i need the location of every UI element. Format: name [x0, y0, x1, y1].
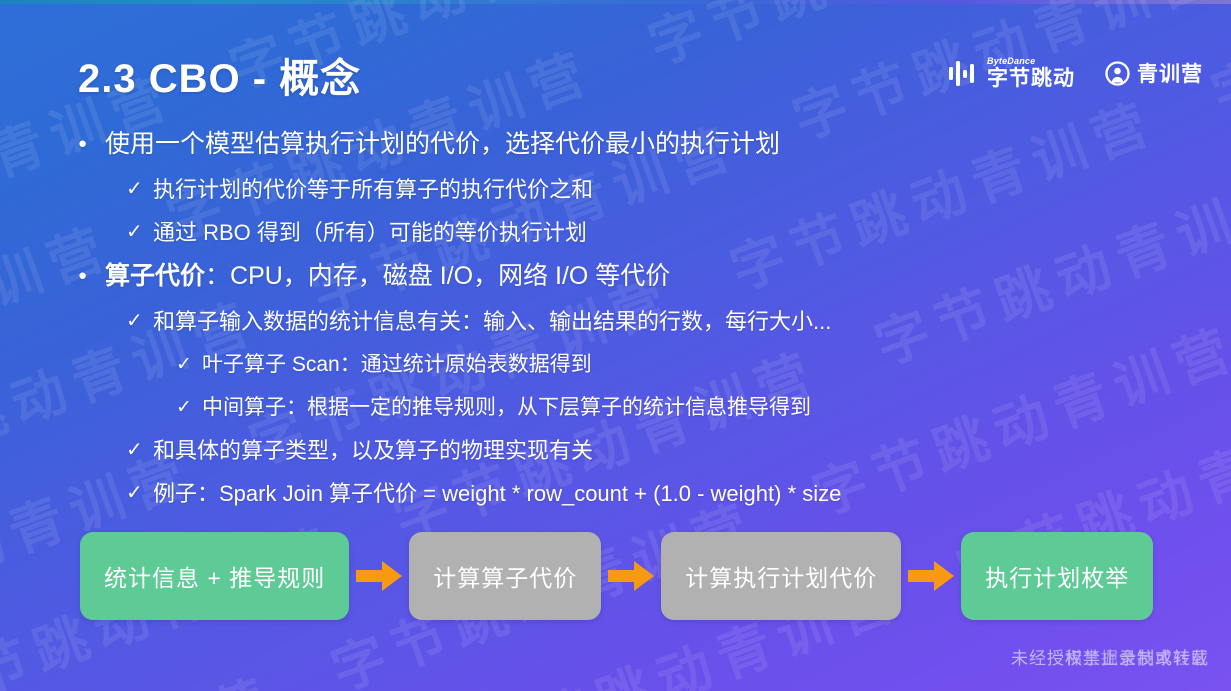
footer-overlay-watermark: 稀土掘金技术社区 — [1065, 644, 1209, 669]
flow-step-label: 执行计划枚举 — [985, 559, 1129, 593]
bullet-text: 执行计划的代价等于所有算子的执行代价之和 — [153, 170, 1191, 209]
bullet-item-level2: ✓和算子输入数据的统计信息有关：输入、输出结果的行数，每行大小... — [126, 302, 1191, 341]
flow-step-box: 统计信息 + 推导规则 — [80, 532, 349, 620]
flow-arrow-icon — [601, 561, 661, 591]
flow-arrow-icon — [901, 561, 961, 591]
footer-notice: 未经授权禁止录制或转载 稀土掘金技术社区 — [1011, 644, 1209, 669]
bullet-text-emphasis: 算子代价 — [105, 262, 205, 290]
page-title: 2.3 CBO - 概念 — [78, 46, 361, 104]
bytedance-name-en: ByteDance — [987, 57, 1075, 66]
bytedance-wordmark: ByteDance 字节跳动 — [987, 57, 1075, 89]
bullet-text-rest: ：CPU，内存，磁盘 I/O，网络 I/O 等代价 — [205, 262, 670, 290]
camp-name: 青训营 — [1137, 58, 1203, 88]
bullet-text: 算子代价：CPU，内存，磁盘 I/O，网络 I/O 等代价 — [105, 256, 1191, 296]
bullet-text: 通过 RBO 得到（所有）可能的等价执行计划 — [153, 213, 1191, 252]
bullet-dot-icon: ● — [78, 124, 105, 164]
bytedance-name-cn: 字节跳动 — [987, 68, 1075, 89]
bytedance-logo: ByteDance 字节跳动 — [949, 57, 1075, 89]
bullet-item-level1: ●使用一个模型估算执行计划的代价，选择代价最小的执行计划 — [78, 124, 1191, 164]
circle-person-icon — [1105, 61, 1130, 86]
bullet-text: 和具体的算子类型，以及算子的物理实现有关 — [153, 431, 1191, 470]
bullet-item-level3: ✓中间算子：根据一定的推导规则，从下层算子的统计信息推导得到 — [176, 388, 1191, 427]
flow-arrow-icon — [349, 561, 409, 591]
check-mark-icon: ✓ — [126, 431, 153, 470]
flow-step-box: 计算执行计划代价 — [661, 532, 901, 620]
check-mark-icon: ✓ — [176, 345, 202, 384]
bullet-dot-icon: ● — [78, 256, 105, 296]
bullet-text: 例子：Spark Join 算子代价 = weight * row_count … — [153, 474, 1191, 513]
presentation-slide: 字节跳动青训营 字节跳动青训营 字节跳动青训营 字节跳动青训营 字节跳动青训营 … — [0, 0, 1231, 691]
bullet-text: 和算子输入数据的统计信息有关：输入、输出结果的行数，每行大小... — [153, 302, 1191, 341]
bullet-item-level2: ✓执行计划的代价等于所有算子的执行代价之和 — [126, 170, 1191, 209]
check-mark-icon: ✓ — [126, 474, 153, 513]
bullet-text: 中间算子：根据一定的推导规则，从下层算子的统计信息推导得到 — [202, 388, 1191, 427]
bullet-item-level2: ✓例子：Spark Join 算子代价 = weight * row_count… — [126, 474, 1191, 513]
bar-chart-logo-icon — [949, 61, 979, 86]
bullet-text: 使用一个模型估算执行计划的代价，选择代价最小的执行计划 — [105, 124, 1191, 164]
check-mark-icon: ✓ — [126, 213, 153, 252]
bullet-text: 叶子算子 Scan：通过统计原始表数据得到 — [202, 345, 1191, 384]
check-mark-icon: ✓ — [126, 170, 153, 209]
flow-step-box: 计算算子代价 — [409, 532, 601, 620]
top-accent-strip — [0, 0, 1231, 4]
check-mark-icon: ✓ — [176, 388, 202, 427]
flow-step-box: 执行计划枚举 — [961, 532, 1153, 620]
bullet-list: ●使用一个模型估算执行计划的代价，选择代价最小的执行计划✓执行计划的代价等于所有… — [78, 124, 1191, 517]
brand-logo-group: ByteDance 字节跳动 青训营 — [949, 57, 1203, 89]
check-mark-icon: ✓ — [126, 302, 153, 341]
bullet-item-level2: ✓通过 RBO 得到（所有）可能的等价执行计划 — [126, 213, 1191, 252]
flow-step-label: 统计信息 + 推导规则 — [104, 559, 325, 593]
flow-step-label: 计算算子代价 — [433, 559, 577, 593]
bullet-item-level2: ✓和具体的算子类型，以及算子的物理实现有关 — [126, 431, 1191, 470]
bullet-item-level1: ●算子代价：CPU，内存，磁盘 I/O，网络 I/O 等代价 — [78, 256, 1191, 296]
flow-diagram: 统计信息 + 推导规则计算算子代价计算执行计划代价执行计划枚举 — [80, 532, 1153, 620]
flow-step-label: 计算执行计划代价 — [685, 559, 877, 593]
camp-logo: 青训营 — [1105, 58, 1203, 88]
bullet-item-level3: ✓叶子算子 Scan：通过统计原始表数据得到 — [176, 345, 1191, 384]
